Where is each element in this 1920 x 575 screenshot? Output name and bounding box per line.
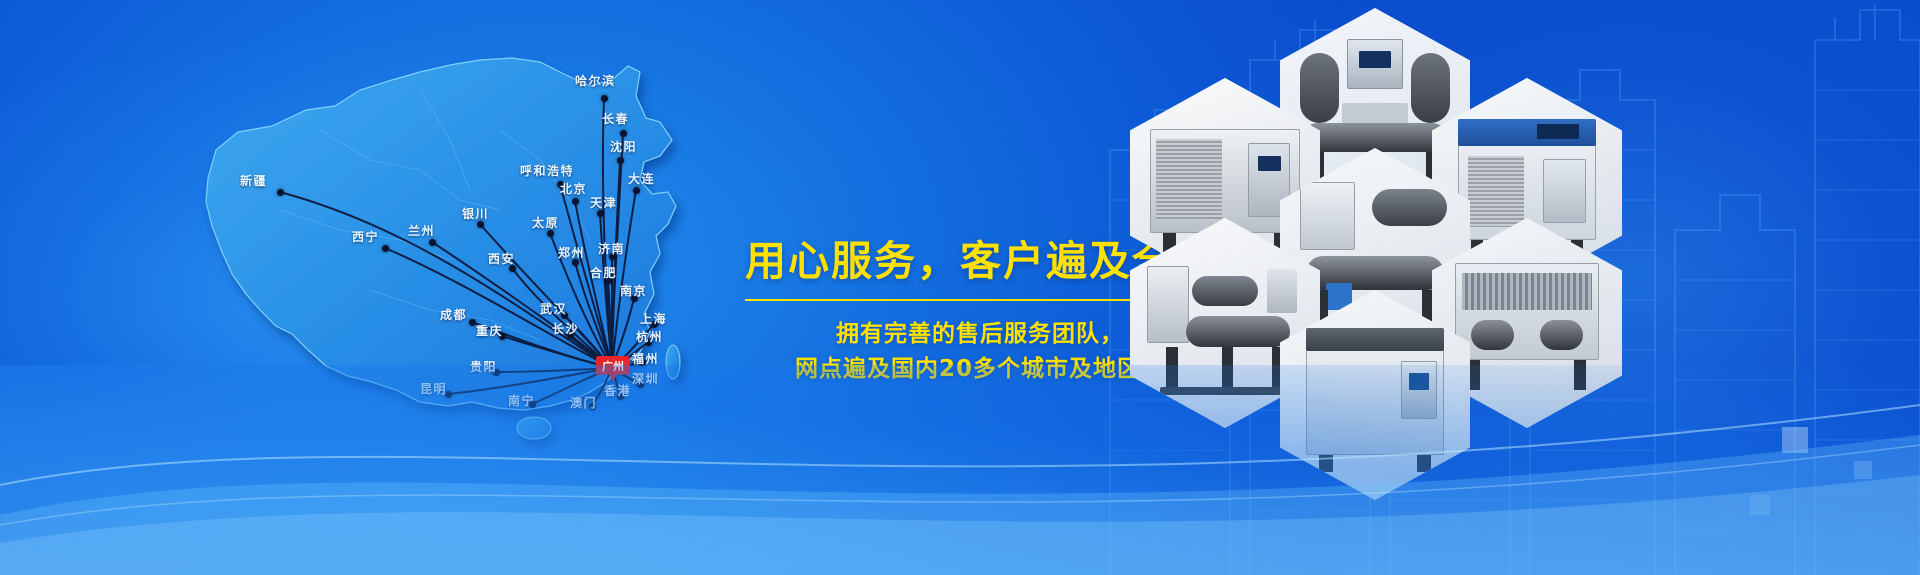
city-dot-9[interactable] <box>382 245 389 252</box>
city-dot-7[interactable] <box>277 189 284 196</box>
city-dot-20[interactable] <box>567 332 574 339</box>
city-dot-13[interactable] <box>572 259 579 266</box>
background-light-sweep <box>0 365 1920 575</box>
promo-banner: 哈尔滨长春沈阳呼和浩特北京天津大连新疆银川西宁兰州太原西安郑州济南合肥南京上海杭… <box>0 0 1920 575</box>
city-dot-5[interactable] <box>597 210 604 217</box>
city-dot-19[interactable] <box>561 312 568 319</box>
city-dot-6[interactable] <box>633 187 640 194</box>
city-dot-4[interactable] <box>572 198 579 205</box>
headline-divider <box>745 299 1185 301</box>
city-dot-12[interactable] <box>509 265 516 272</box>
city-dot-22[interactable] <box>469 319 476 326</box>
city-dot-2[interactable] <box>617 157 624 164</box>
city-dot-11[interactable] <box>547 230 554 237</box>
city-dot-14[interactable] <box>609 253 616 260</box>
city-dot-10[interactable] <box>429 239 436 246</box>
city-dot-16[interactable] <box>631 295 638 302</box>
city-dot-8[interactable] <box>477 221 484 228</box>
city-dot-17[interactable] <box>651 321 658 328</box>
city-dot-18[interactable] <box>645 339 652 346</box>
city-dot-0[interactable] <box>601 95 608 102</box>
city-dot-15[interactable] <box>605 277 612 284</box>
city-dot-3[interactable] <box>557 181 564 188</box>
city-dot-23[interactable] <box>499 333 506 340</box>
city-dot-1[interactable] <box>620 130 627 137</box>
